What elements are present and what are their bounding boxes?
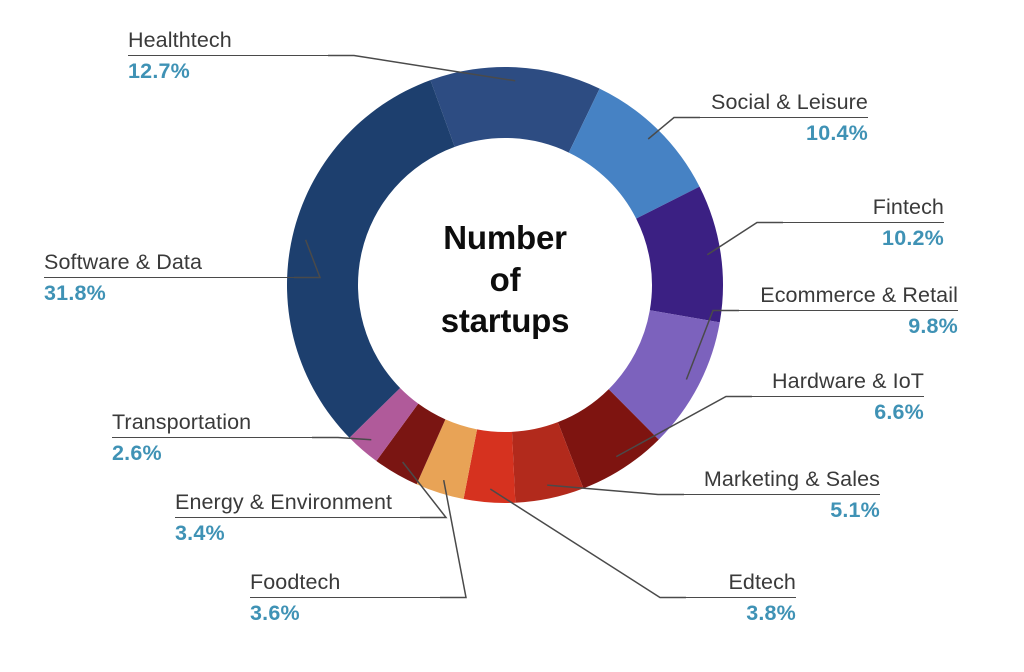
callout-label: Energy & Environment3.4% xyxy=(175,490,420,546)
donut-slice[interactable] xyxy=(430,67,599,153)
callout-label: Healthtech12.7% xyxy=(128,28,328,84)
callout-percent-value: 2.6% xyxy=(112,441,312,466)
callout-label: Fintech10.2% xyxy=(783,195,944,251)
callout-underline xyxy=(44,277,294,278)
callout-percent-value: 3.4% xyxy=(175,521,420,546)
callout-percent-value: 10.2% xyxy=(783,226,944,251)
callout-underline xyxy=(783,222,944,223)
callout-category-name: Foodtech xyxy=(250,570,440,595)
donut-chart: Number of startups Healthtech12.7%Social… xyxy=(0,0,1024,672)
callout-underline xyxy=(684,494,880,495)
callout-category-name: Transportation xyxy=(112,410,312,435)
callout-category-name: Ecommerce & Retail xyxy=(739,283,958,308)
callout-underline xyxy=(175,517,420,518)
center-line-3: startups xyxy=(375,300,635,342)
callout-percent-value: 9.8% xyxy=(739,314,958,339)
center-line-2: of xyxy=(375,259,635,301)
callout-category-name: Fintech xyxy=(783,195,944,220)
callout-label: Edtech3.8% xyxy=(686,570,796,626)
callout-label: Hardware & IoT6.6% xyxy=(752,369,924,425)
callout-category-name: Software & Data xyxy=(44,250,294,275)
callout-percent-value: 5.1% xyxy=(684,498,880,523)
callout-underline xyxy=(112,437,312,438)
center-line-1: Number xyxy=(375,217,635,259)
callout-label: Foodtech3.6% xyxy=(250,570,440,626)
callout-percent-value: 3.8% xyxy=(686,601,796,626)
callout-underline xyxy=(700,117,868,118)
callout-underline xyxy=(752,396,924,397)
callout-percent-value: 12.7% xyxy=(128,59,328,84)
callout-leader-line xyxy=(490,489,686,598)
callout-category-name: Energy & Environment xyxy=(175,490,420,515)
callout-label: Marketing & Sales5.1% xyxy=(684,467,880,523)
callout-percent-value: 10.4% xyxy=(700,121,868,146)
callout-underline xyxy=(250,597,440,598)
callout-label: Ecommerce & Retail9.8% xyxy=(739,283,958,339)
callout-label: Social & Leisure10.4% xyxy=(700,90,868,146)
callout-label: Software & Data31.8% xyxy=(44,250,294,306)
callout-category-name: Hardware & IoT xyxy=(752,369,924,394)
callout-underline xyxy=(686,597,796,598)
callout-underline xyxy=(128,55,328,56)
callout-percent-value: 31.8% xyxy=(44,281,294,306)
callout-percent-value: 3.6% xyxy=(250,601,440,626)
donut-center-label: Number of startups xyxy=(375,217,635,342)
callout-label: Transportation2.6% xyxy=(112,410,312,466)
callout-underline xyxy=(739,310,958,311)
callout-category-name: Social & Leisure xyxy=(700,90,868,115)
callout-category-name: Marketing & Sales xyxy=(684,467,880,492)
callout-percent-value: 6.6% xyxy=(752,400,924,425)
callout-category-name: Edtech xyxy=(686,570,796,595)
callout-category-name: Healthtech xyxy=(128,28,328,53)
